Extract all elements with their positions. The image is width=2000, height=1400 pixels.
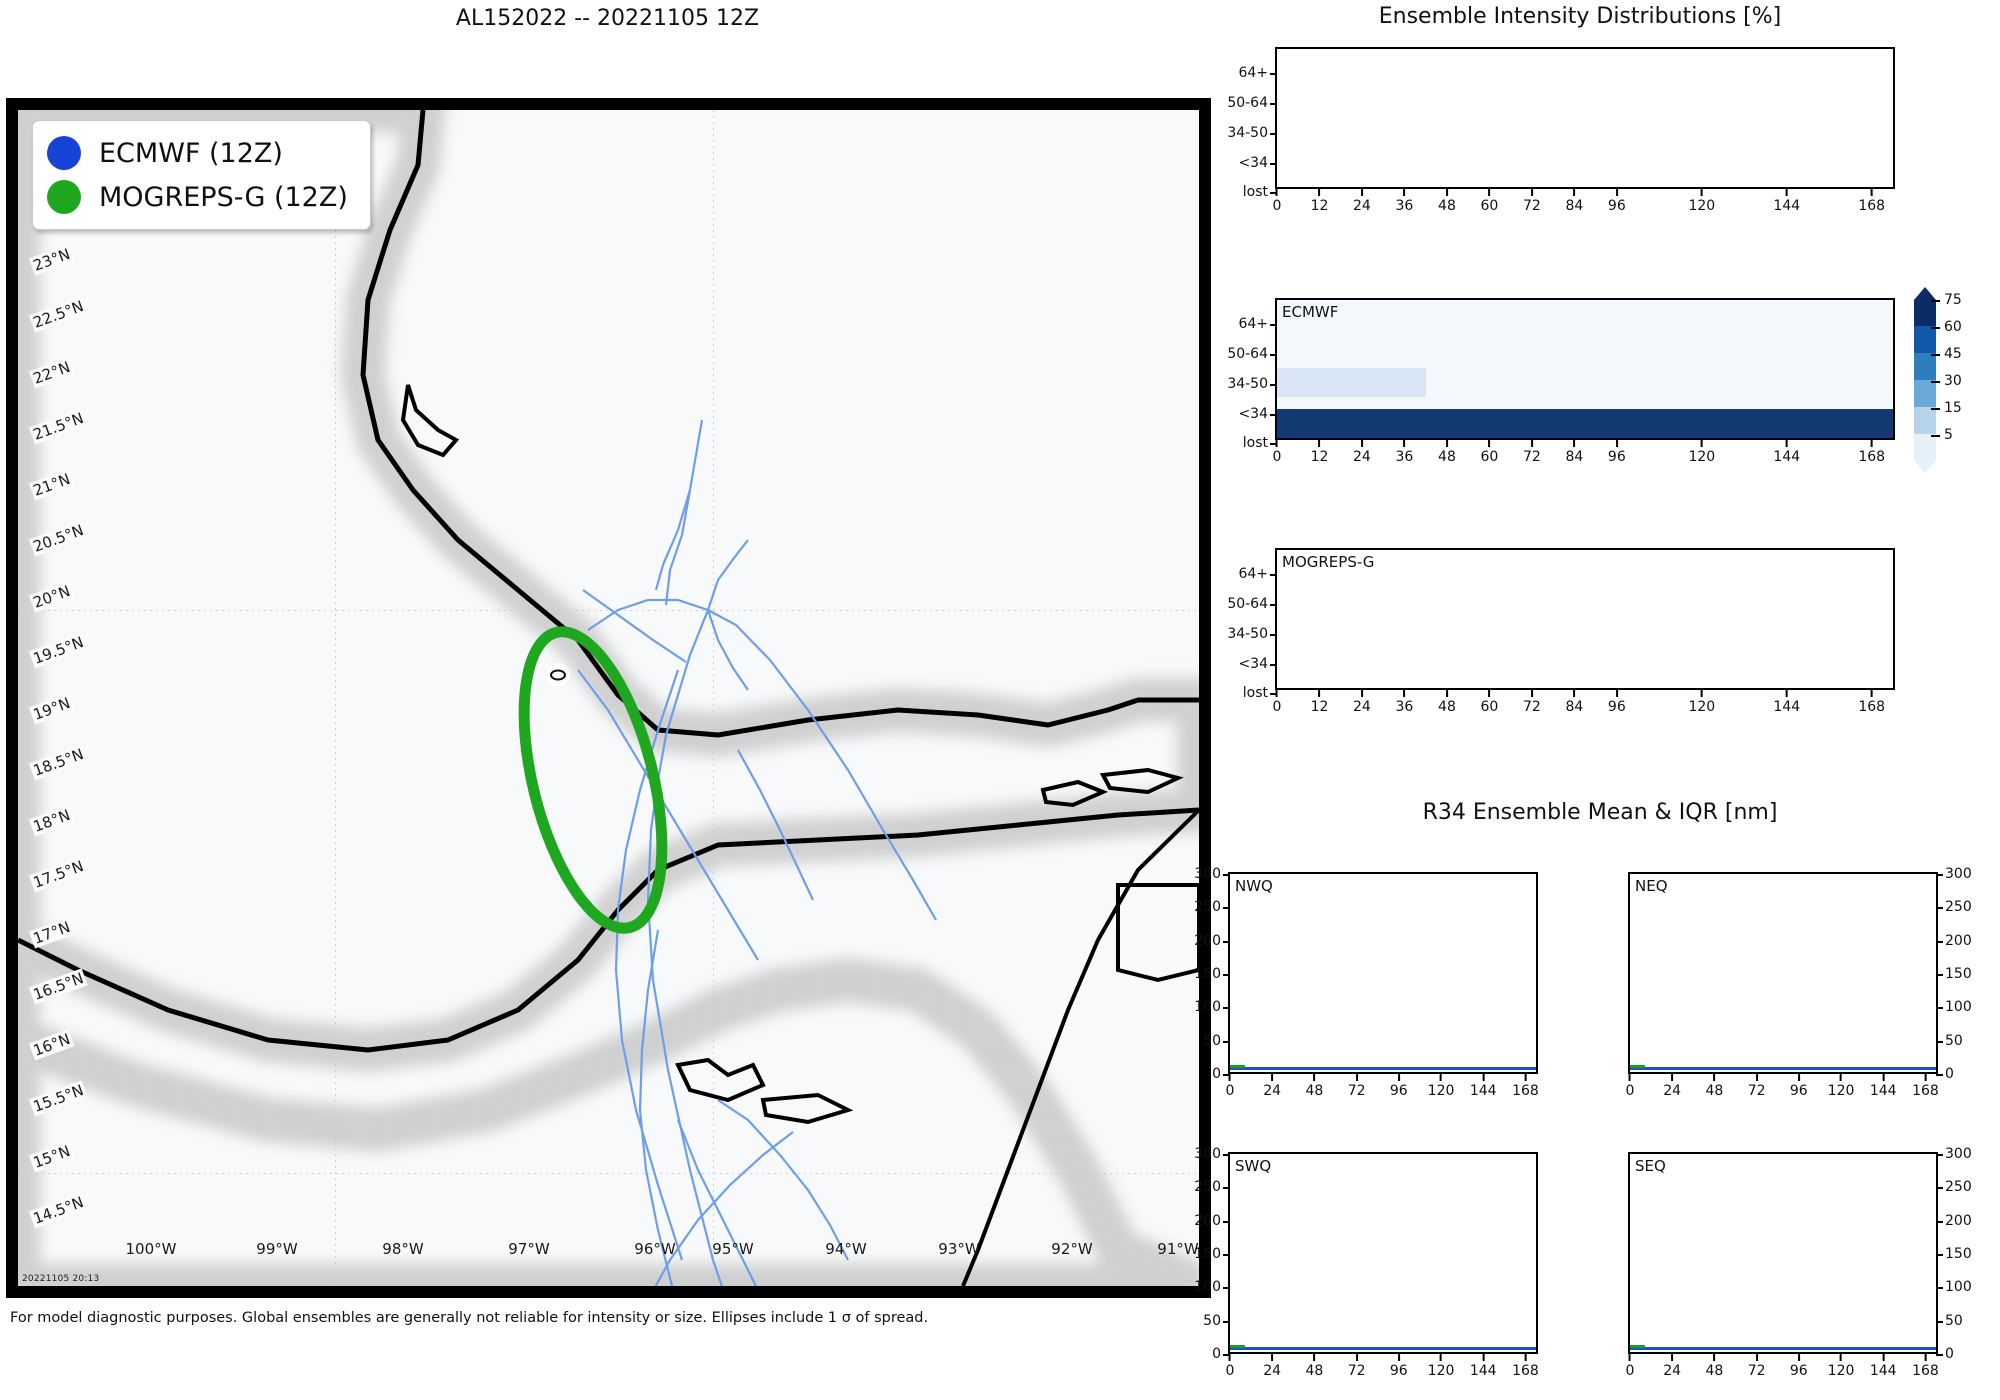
panel-label: NWQ xyxy=(1235,877,1273,895)
figure-root: AL152022 -- 20221105 12Z xyxy=(0,0,2000,1400)
colorbar-tick: 5 xyxy=(1944,427,1953,443)
y-tick: lost xyxy=(1243,184,1268,200)
ecmwf-dot-icon xyxy=(47,136,81,170)
x-tick: 60 xyxy=(1480,699,1498,715)
y-tick: 250 xyxy=(1945,899,1972,915)
x-tick: 168 xyxy=(1912,1363,1939,1379)
x-tick: 144 xyxy=(1773,449,1800,465)
y-tick: 0 xyxy=(1945,1346,1954,1362)
x-tick: 0 xyxy=(1626,1083,1635,1099)
x-tick: 144 xyxy=(1870,1363,1897,1379)
lon-label: 91°W xyxy=(1157,1240,1198,1258)
x-tick: 0 xyxy=(1226,1363,1235,1379)
intensity-colorbar[interactable]: 75 60 45 30 15 5 xyxy=(1914,300,1984,460)
panel-label: NEQ xyxy=(1635,877,1668,895)
mogreps-dot-icon xyxy=(47,180,81,214)
y-tick: 300 xyxy=(1194,866,1221,882)
r34-section-title: R34 Ensemble Mean & IQR [nm] xyxy=(1230,800,1970,825)
y-tick: <34 xyxy=(1238,155,1268,171)
x-tick: 120 xyxy=(1828,1083,1855,1099)
x-tick: 36 xyxy=(1396,198,1414,214)
panel-label: SEQ xyxy=(1635,1157,1666,1175)
x-tick: 0 xyxy=(1273,449,1282,465)
y-tick: 34-50 xyxy=(1227,125,1268,141)
map-canvas[interactable]: 23°N 22.5°N 22°N 21.5°N 21°N 20.5°N 20°N… xyxy=(18,110,1199,1286)
x-tick: 24 xyxy=(1353,699,1371,715)
y-tick: 150 xyxy=(1194,966,1221,982)
map-timestamp: 20221105 20:13 xyxy=(22,1274,99,1284)
x-tick: 120 xyxy=(1688,699,1715,715)
x-tick: 72 xyxy=(1348,1363,1366,1379)
map-title: AL152022 -- 20221105 12Z xyxy=(0,6,1215,31)
figure-caption: For model diagnostic purposes. Global en… xyxy=(10,1310,928,1326)
x-tick: 36 xyxy=(1396,449,1414,465)
x-tick: 60 xyxy=(1480,198,1498,214)
y-tick: 300 xyxy=(1194,1146,1221,1162)
x-tick: 168 xyxy=(1512,1083,1539,1099)
x-tick: 144 xyxy=(1470,1363,1497,1379)
intensity-panel-mogreps-g[interactable]: MOGREPS-G 64+ 50-64 34-50 <34 lost 0 12 … xyxy=(1275,548,1895,690)
x-tick: 12 xyxy=(1311,198,1329,214)
y-tick: 50-64 xyxy=(1227,95,1268,111)
y-tick: 200 xyxy=(1194,1213,1221,1229)
r34-panel-seq[interactable]: SEQ 300 250 200 150 100 50 0 0 24 48 72 … xyxy=(1628,1152,1938,1354)
y-tick: 64+ xyxy=(1238,316,1268,332)
x-tick: 120 xyxy=(1688,449,1715,465)
panel-label: MOGREPS-G xyxy=(1282,553,1374,571)
x-tick: 0 xyxy=(1273,699,1282,715)
y-tick: 0 xyxy=(1945,1066,1954,1082)
x-tick: 48 xyxy=(1438,449,1456,465)
y-tick: 0 xyxy=(1212,1066,1221,1082)
x-tick: 84 xyxy=(1565,449,1583,465)
lon-label: 98°W xyxy=(382,1240,423,1258)
legend-label: MOGREPS-G (12Z) xyxy=(99,182,348,213)
x-tick: 36 xyxy=(1396,699,1414,715)
x-tick: 12 xyxy=(1311,699,1329,715)
x-tick: 72 xyxy=(1523,699,1541,715)
r34-mean-line xyxy=(1630,1067,1936,1070)
y-tick: 0 xyxy=(1212,1346,1221,1362)
x-tick: 48 xyxy=(1706,1083,1724,1099)
x-tick: 24 xyxy=(1663,1083,1681,1099)
y-tick: 250 xyxy=(1194,1179,1221,1195)
x-tick: 72 xyxy=(1523,449,1541,465)
x-tick: 24 xyxy=(1353,449,1371,465)
y-tick: 50-64 xyxy=(1227,596,1268,612)
r34-iqr-segment xyxy=(1230,1345,1245,1348)
x-tick: 120 xyxy=(1828,1363,1855,1379)
x-tick: 168 xyxy=(1912,1083,1939,1099)
x-tick: 48 xyxy=(1306,1363,1324,1379)
lon-label: 100°W xyxy=(126,1240,177,1258)
y-tick: 50 xyxy=(1945,1033,1963,1049)
legend-item-mogreps-g[interactable]: MOGREPS-G (12Z) xyxy=(47,175,348,219)
x-tick: 84 xyxy=(1565,699,1583,715)
map-legend[interactable]: ECMWF (12Z) MOGREPS-G (12Z) xyxy=(32,120,371,230)
y-tick: <34 xyxy=(1238,406,1268,422)
x-tick: 48 xyxy=(1438,699,1456,715)
y-tick: 100 xyxy=(1945,1279,1972,1295)
x-tick: 96 xyxy=(1390,1363,1408,1379)
x-tick: 120 xyxy=(1688,198,1715,214)
x-tick: 24 xyxy=(1263,1083,1281,1099)
lon-label: 93°W xyxy=(938,1240,979,1258)
r34-panel-nwq[interactable]: NWQ 300 250 200 150 100 50 0 0 24 48 72 … xyxy=(1228,872,1538,1074)
y-tick: 250 xyxy=(1945,1179,1972,1195)
y-tick: 300 xyxy=(1945,1146,1972,1162)
coastline-map xyxy=(18,110,1199,1286)
r34-mean-line xyxy=(1230,1347,1536,1350)
colorbar-tick: 75 xyxy=(1944,292,1962,308)
y-tick: 64+ xyxy=(1238,566,1268,582)
x-tick: 120 xyxy=(1428,1363,1455,1379)
y-tick: 250 xyxy=(1194,899,1221,915)
y-tick: 100 xyxy=(1194,999,1221,1015)
x-tick: 48 xyxy=(1438,198,1456,214)
map-panel[interactable]: 23°N 22.5°N 22°N 21.5°N 21°N 20.5°N 20°N… xyxy=(6,98,1211,1298)
y-tick: 34-50 xyxy=(1227,626,1268,642)
x-tick: 0 xyxy=(1273,198,1282,214)
x-tick: 168 xyxy=(1858,699,1885,715)
intensity-panel-ecmwf[interactable]: ECMWF 64+ 50-64 34-50 <34 lost 0 12 24 3… xyxy=(1275,298,1895,440)
r34-iqr-segment xyxy=(1630,1345,1645,1348)
lon-label: 95°W xyxy=(712,1240,753,1258)
x-tick: 168 xyxy=(1858,449,1885,465)
y-tick: 200 xyxy=(1945,1213,1972,1229)
x-tick: 24 xyxy=(1353,198,1371,214)
r34-iqr-segment xyxy=(1630,1065,1645,1068)
x-tick: 48 xyxy=(1706,1363,1724,1379)
x-tick: 144 xyxy=(1773,198,1800,214)
legend-item-ecmwf[interactable]: ECMWF (12Z) xyxy=(47,131,348,175)
lon-label: 96°W xyxy=(634,1240,675,1258)
r34-panel-swq[interactable]: SWQ 300 250 200 150 100 50 0 0 24 48 72 … xyxy=(1228,1152,1538,1354)
colorbar-tick: 45 xyxy=(1944,346,1962,362)
x-tick: 12 xyxy=(1311,449,1329,465)
x-tick: 24 xyxy=(1663,1363,1681,1379)
r34-mean-line xyxy=(1630,1347,1936,1350)
x-tick: 72 xyxy=(1348,1083,1366,1099)
x-tick: 144 xyxy=(1773,699,1800,715)
y-tick: 300 xyxy=(1945,866,1972,882)
x-tick: 24 xyxy=(1263,1363,1281,1379)
x-tick: 96 xyxy=(1790,1083,1808,1099)
colorbar-tick: 15 xyxy=(1944,400,1962,416)
lon-label: 99°W xyxy=(256,1240,297,1258)
colorbar-tick: 30 xyxy=(1944,373,1962,389)
y-tick: 150 xyxy=(1945,966,1972,982)
x-tick: 84 xyxy=(1565,198,1583,214)
y-tick: 50 xyxy=(1945,1313,1963,1329)
x-tick: 96 xyxy=(1608,198,1626,214)
x-tick: 72 xyxy=(1523,198,1541,214)
panel-label: SWQ xyxy=(1235,1157,1271,1175)
y-tick: 200 xyxy=(1194,933,1221,949)
r34-panel-neq[interactable]: NEQ 300 250 200 150 100 50 0 0 24 48 72 … xyxy=(1628,872,1938,1074)
legend-label: ECMWF (12Z) xyxy=(99,138,283,169)
x-tick: 144 xyxy=(1870,1083,1897,1099)
colorbar-bottom-arrow-icon xyxy=(1914,460,1936,473)
y-tick: 100 xyxy=(1194,1279,1221,1295)
colorbar-tick: 60 xyxy=(1944,319,1962,335)
lon-label: 94°W xyxy=(825,1240,866,1258)
y-tick: 64+ xyxy=(1238,65,1268,81)
x-tick: 168 xyxy=(1512,1363,1539,1379)
heat-cell-lost xyxy=(1277,409,1893,438)
lon-label: 97°W xyxy=(508,1240,549,1258)
lon-label: 92°W xyxy=(1051,1240,1092,1258)
y-tick: 150 xyxy=(1194,1246,1221,1262)
x-tick: 144 xyxy=(1470,1083,1497,1099)
intensity-section-title: Ensemble Intensity Distributions [%] xyxy=(1230,4,1930,29)
r34-mean-line xyxy=(1230,1067,1536,1070)
x-tick: 96 xyxy=(1390,1083,1408,1099)
x-tick: 72 xyxy=(1748,1363,1766,1379)
x-tick: 60 xyxy=(1480,449,1498,465)
y-tick: 150 xyxy=(1945,1246,1972,1262)
x-tick: 168 xyxy=(1858,198,1885,214)
x-tick: 96 xyxy=(1608,449,1626,465)
y-tick: 100 xyxy=(1945,999,1972,1015)
y-tick: 200 xyxy=(1945,933,1972,949)
y-tick: 50-64 xyxy=(1227,346,1268,362)
x-tick: 120 xyxy=(1428,1083,1455,1099)
x-tick: 96 xyxy=(1790,1363,1808,1379)
x-tick: 0 xyxy=(1226,1083,1235,1099)
x-tick: 72 xyxy=(1748,1083,1766,1099)
colorbar-top-arrow-icon xyxy=(1914,287,1936,300)
y-tick: 34-50 xyxy=(1227,376,1268,392)
heat-cell-lt34 xyxy=(1277,368,1426,397)
panel-label: ECMWF xyxy=(1282,303,1338,321)
x-tick: 0 xyxy=(1626,1363,1635,1379)
y-tick: 50 xyxy=(1203,1313,1221,1329)
y-tick: lost xyxy=(1243,685,1268,701)
y-tick: <34 xyxy=(1238,656,1268,672)
x-tick: 48 xyxy=(1306,1083,1324,1099)
intensity-panel-summary[interactable]: 64+ 50-64 34-50 <34 lost 0 12 24 36 48 6… xyxy=(1275,47,1895,189)
x-tick: 96 xyxy=(1608,699,1626,715)
y-tick: 50 xyxy=(1203,1033,1221,1049)
r34-iqr-segment xyxy=(1230,1065,1245,1068)
y-tick: lost xyxy=(1243,435,1268,451)
